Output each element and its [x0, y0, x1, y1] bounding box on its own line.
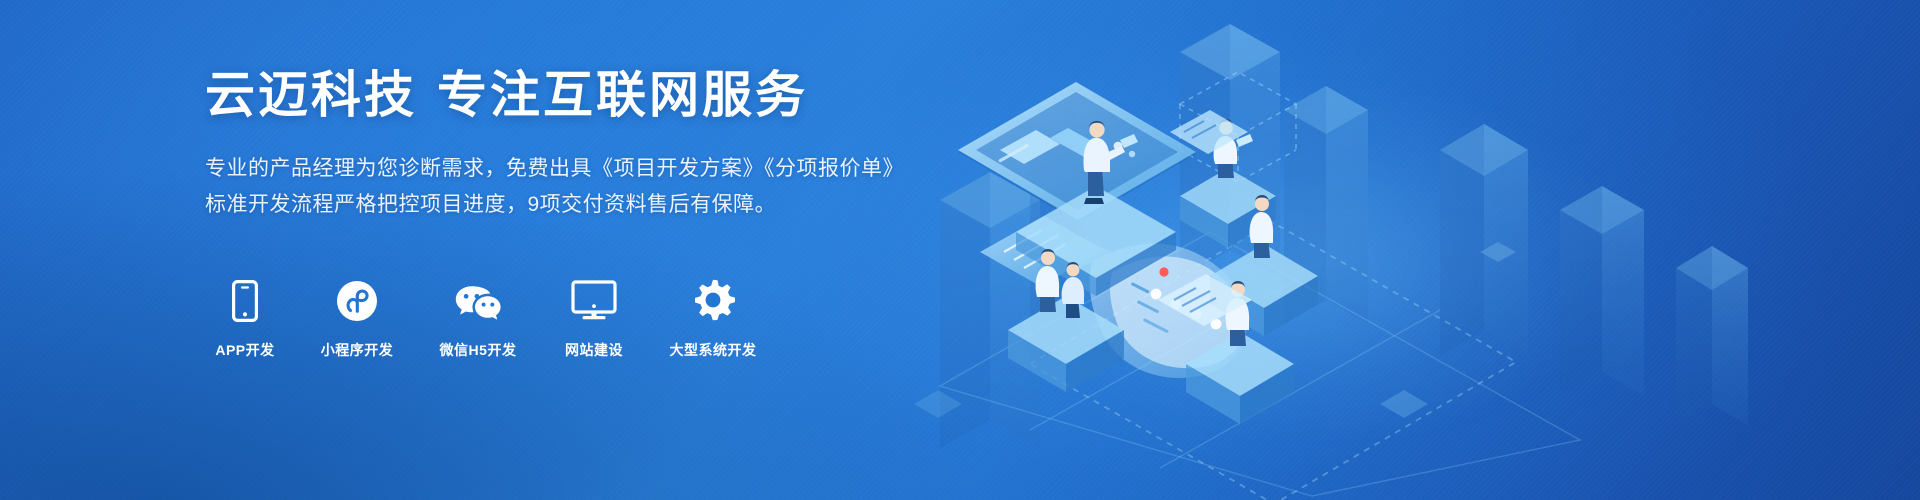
wechat-icon: [453, 278, 503, 324]
service-item-website[interactable]: 网站建设: [553, 278, 635, 360]
mini-program-icon: [336, 278, 378, 324]
service-item-miniprogram[interactable]: 小程序开发: [311, 278, 403, 360]
subtitle-line-2: 标准开发流程严格把控项目进度，9项交付资料售后有保障。: [205, 187, 965, 223]
monitor-icon: [571, 278, 617, 324]
banner-copy: 云迈科技专注互联网服务 专业的产品经理为您诊断需求，免费出具《项目开发方案》《分…: [205, 66, 965, 223]
page-title: 云迈科技专注互联网服务: [205, 66, 965, 125]
headline-brand: 云迈科技: [205, 67, 417, 123]
illustration-svg: [880, 0, 1920, 500]
service-item-system[interactable]: 大型系统开发: [661, 278, 765, 360]
service-label: 小程序开发: [321, 340, 394, 360]
illustration-isometric-tech: [880, 0, 1920, 500]
gear-icon: [691, 278, 735, 324]
promo-banner: 云迈科技专注互联网服务 专业的产品经理为您诊断需求，免费出具《项目开发方案》《分…: [0, 0, 1920, 500]
service-item-wechat[interactable]: 微信H5开发: [429, 278, 527, 360]
service-label: 大型系统开发: [670, 340, 757, 360]
headline-tagline: 专注互联网服务: [437, 67, 808, 123]
mobile-phone-icon: [232, 278, 258, 324]
service-list: APP开发 小程序开发: [205, 278, 765, 360]
service-label: 网站建设: [565, 340, 623, 360]
service-label: 微信H5开发: [440, 340, 517, 360]
service-item-app[interactable]: APP开发: [205, 278, 285, 360]
service-label: APP开发: [215, 340, 274, 360]
banner-subtitle: 专业的产品经理为您诊断需求，免费出具《项目开发方案》《分项报价单》 标准开发流程…: [205, 151, 965, 223]
subtitle-line-1: 专业的产品经理为您诊断需求，免费出具《项目开发方案》《分项报价单》: [205, 151, 965, 187]
